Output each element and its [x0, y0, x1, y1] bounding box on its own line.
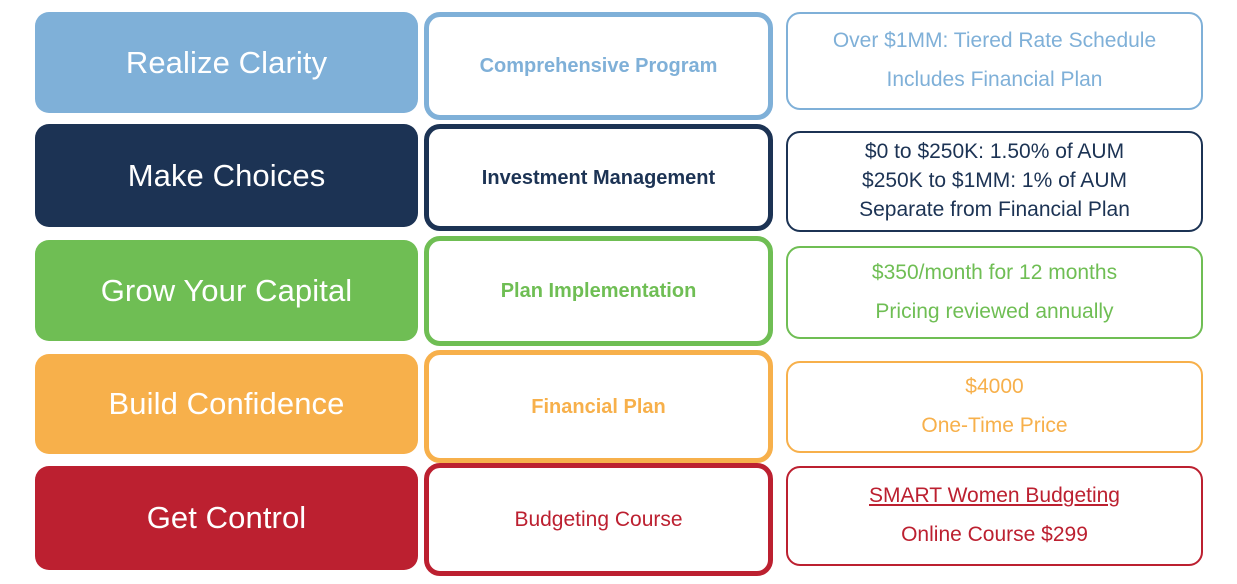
- pricing-detail-line: $350/month for 12 months: [864, 261, 1125, 286]
- service-label: Comprehensive Program: [472, 54, 726, 78]
- service-label: Budgeting Course: [506, 507, 690, 532]
- pricing-detail-line: $250K to $1MM: 1% of AUM: [854, 169, 1135, 194]
- service-label: Financial Plan: [523, 395, 673, 419]
- benefit-label: Build Confidence: [99, 386, 355, 422]
- service-card-grow-your-capital[interactable]: Plan Implementation: [424, 236, 773, 346]
- pricing-card-make-choices[interactable]: $0 to $250K: 1.50% of AUM$250K to $1MM: …: [786, 131, 1203, 232]
- pricing-link[interactable]: SMART Women Budgeting: [861, 484, 1128, 509]
- benefit-card-make-choices[interactable]: Make Choices: [35, 124, 418, 227]
- pricing-detail-line: Includes Financial Plan: [879, 68, 1111, 93]
- benefit-card-get-control[interactable]: Get Control: [35, 466, 418, 570]
- service-card-make-choices[interactable]: Investment Management: [424, 124, 773, 231]
- benefit-card-grow-your-capital[interactable]: Grow Your Capital: [35, 240, 418, 341]
- pricing-detail-line: Over $1MM: Tiered Rate Schedule: [825, 29, 1164, 54]
- pricing-detail-line: Separate from Financial Plan: [851, 198, 1138, 223]
- service-card-realize-clarity[interactable]: Comprehensive Program: [424, 12, 773, 120]
- benefit-label: Make Choices: [118, 158, 336, 194]
- pricing-card-build-confidence[interactable]: $4000One-Time Price: [786, 361, 1203, 453]
- service-card-get-control[interactable]: Budgeting Course: [424, 463, 773, 576]
- service-label: Investment Management: [474, 166, 723, 190]
- pricing-detail-line: Pricing reviewed annually: [867, 300, 1121, 325]
- benefit-card-build-confidence[interactable]: Build Confidence: [35, 354, 418, 454]
- service-pricing-grid: Realize ClarityComprehensive ProgramOver…: [0, 0, 1237, 584]
- service-card-build-confidence[interactable]: Financial Plan: [424, 350, 773, 463]
- benefit-card-realize-clarity[interactable]: Realize Clarity: [35, 12, 418, 113]
- benefit-label: Get Control: [137, 500, 317, 536]
- benefit-label: Grow Your Capital: [91, 273, 363, 309]
- pricing-detail-line: $0 to $250K: 1.50% of AUM: [857, 140, 1132, 165]
- pricing-card-realize-clarity[interactable]: Over $1MM: Tiered Rate ScheduleIncludes …: [786, 12, 1203, 110]
- benefit-label: Realize Clarity: [116, 45, 337, 81]
- pricing-detail-line: Online Course $299: [893, 523, 1096, 548]
- pricing-card-get-control[interactable]: SMART Women BudgetingOnline Course $299: [786, 466, 1203, 566]
- pricing-card-grow-your-capital[interactable]: $350/month for 12 monthsPricing reviewed…: [786, 246, 1203, 339]
- pricing-detail-line: One-Time Price: [913, 414, 1075, 439]
- service-label: Plan Implementation: [493, 279, 705, 303]
- pricing-detail-line: $4000: [957, 375, 1031, 400]
